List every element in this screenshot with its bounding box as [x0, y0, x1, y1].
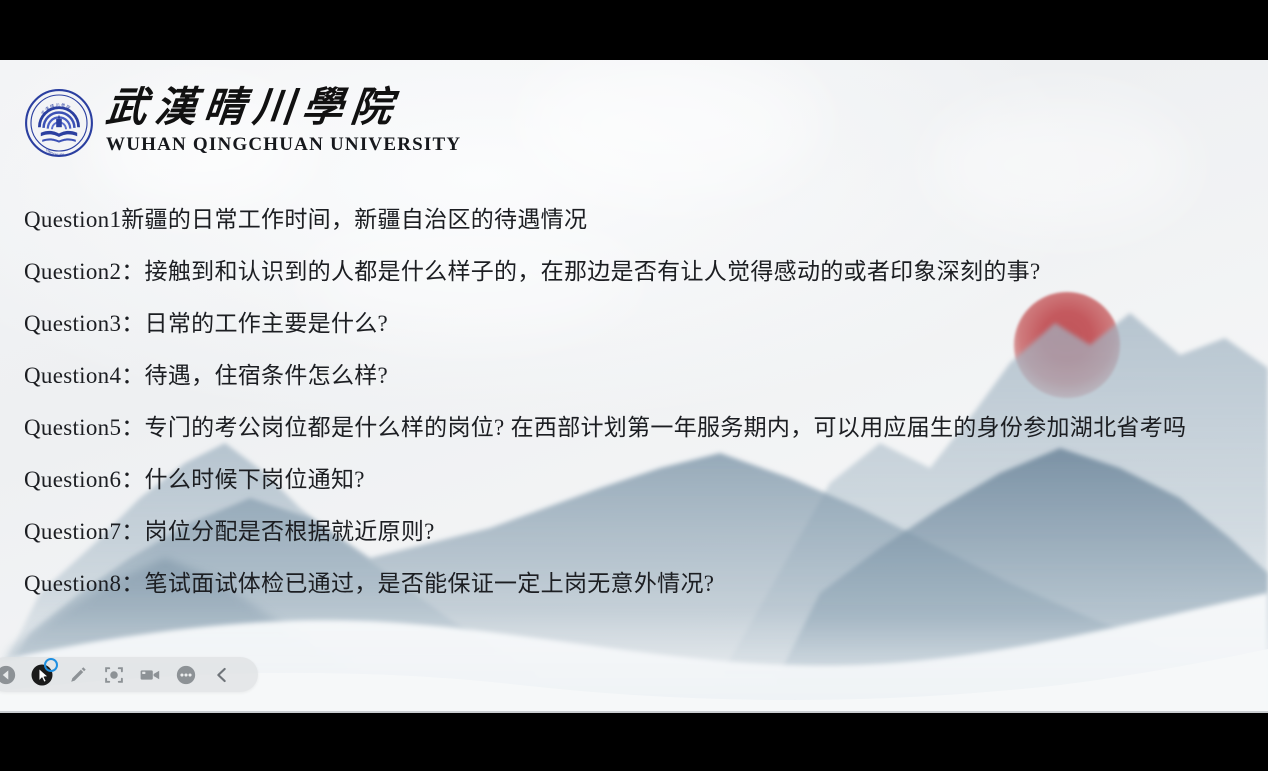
record-video-button[interactable] — [132, 657, 168, 692]
question-item: Question2：接触到和认识到的人都是什么样子的，在那边是否有让人觉得感动的… — [24, 246, 1254, 298]
question-item: Question6：什么时候下岗位通知? — [24, 454, 1254, 506]
more-options-button[interactable] — [168, 657, 204, 692]
screenshot-icon — [103, 664, 125, 686]
logo-chinese-name: 武漢晴川學院 — [104, 86, 464, 129]
collapse-toolbar-button[interactable] — [204, 657, 240, 692]
question-item: Question5：专门的考公岗位都是什么样的岗位? 在西部计划第一年服务期内，… — [24, 402, 1254, 454]
question-item: Question1新疆的日常工作时间，新疆自治区的待遇情况 — [24, 194, 1254, 246]
video-camera-icon — [138, 663, 162, 687]
chevron-left-icon — [212, 665, 232, 685]
video-player-screen: 武 漢 晴 川 學 院 QINGCHUAN 武漢晴川學院 WUHAN QINGC… — [0, 0, 1268, 771]
presentation-slide: 武 漢 晴 川 學 院 QINGCHUAN 武漢晴川學院 WUHAN QINGC… — [0, 60, 1268, 713]
wuhan-qingchuan-university-seal-icon: 武 漢 晴 川 學 院 QINGCHUAN — [24, 88, 94, 158]
texture-blob — [520, 60, 820, 200]
cursor-selected-ring — [44, 658, 58, 672]
question-item: Question4：待遇，住宿条件怎么样? — [24, 350, 1254, 402]
question-item: Question7：岗位分配是否根据就近原则? — [24, 506, 1254, 558]
cursor-pointer-button[interactable] — [24, 657, 60, 692]
back-arrow-icon — [0, 664, 17, 686]
pencil-icon — [67, 664, 89, 686]
letterbox-bar-bottom — [0, 713, 1268, 771]
question-item: Question8：笔试面试体检已通过，是否能保证一定上岗无意外情况? — [24, 558, 1254, 610]
back-arrow-button[interactable] — [0, 657, 24, 692]
player-toolbar[interactable] — [0, 657, 258, 692]
university-logo: 武 漢 晴 川 學 院 QINGCHUAN 武漢晴川學院 WUHAN QINGC… — [24, 86, 461, 158]
logo-english-name: WUHAN QINGCHUAN UNIVERSITY — [106, 134, 461, 156]
pencil-button[interactable] — [60, 657, 96, 692]
letterbox-bar-top — [0, 0, 1268, 60]
slide-bottom-edge — [0, 711, 1268, 713]
question-item: Question3：日常的工作主要是什么? — [24, 298, 1254, 350]
more-dots-icon — [175, 664, 197, 686]
screenshot-button[interactable] — [96, 657, 132, 692]
question-list: Question1新疆的日常工作时间，新疆自治区的待遇情况 Question2：… — [24, 194, 1254, 610]
